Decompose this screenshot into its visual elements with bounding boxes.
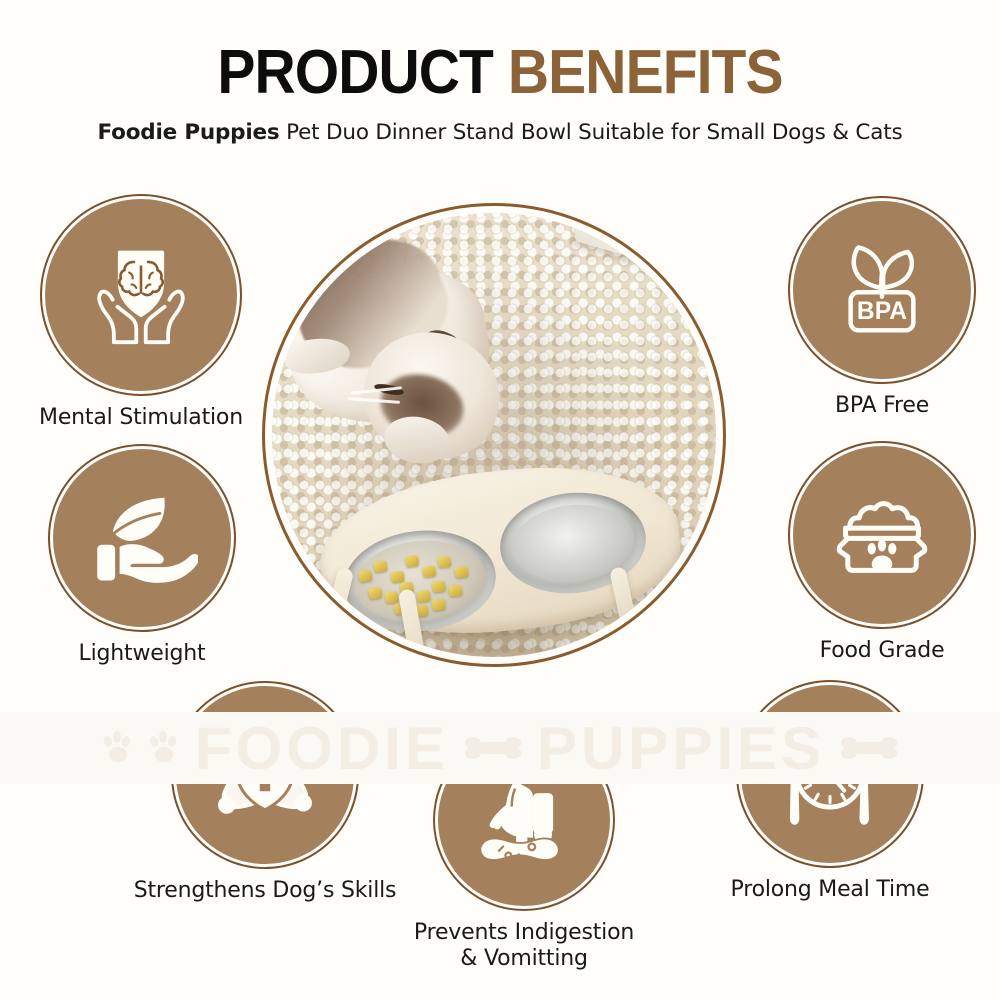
cat	[288, 227, 538, 507]
benefit-label: Prolong Meal Time	[706, 877, 954, 903]
subtitle-brand: Foodie Puppies	[98, 120, 280, 145]
pet-bowl-stand	[320, 471, 700, 657]
page-title: PRODUCT BENEFITS	[40, 42, 960, 104]
brand-watermark: FOODIE PUPPIES	[0, 712, 1000, 784]
kibble	[352, 541, 487, 628]
paw-print-icon	[103, 731, 133, 765]
infographic-canvas: PRODUCT BENEFITS Foodie Puppies Pet Duo …	[0, 0, 1000, 1000]
product-photo	[262, 203, 726, 667]
benefit-label: Lightweight	[44, 641, 240, 667]
subtitle: Foodie Puppies Pet Duo Dinner Stand Bowl…	[0, 120, 1000, 145]
food-bowl-paw-icon	[790, 443, 974, 627]
product-photo-image	[272, 213, 716, 657]
title-part-benefits: BENEFITS	[508, 38, 783, 107]
benefit-label-line2: & Vomitting	[388, 946, 660, 972]
benefit-label: Mental Stimulation	[36, 405, 246, 431]
leaf-on-hand-icon	[50, 446, 234, 630]
benefit-mental-stimulation[interactable]: Mental Stimulation	[36, 196, 246, 431]
bpa-leaf-icon: BPA	[790, 198, 974, 382]
bone-icon	[841, 735, 897, 761]
benefit-food-grade[interactable]: Food Grade	[787, 443, 977, 664]
bpa-text: BPA	[857, 298, 907, 325]
title-part-product: PRODUCT	[217, 38, 493, 107]
benefit-label: Strengthens Dog’s Skills	[120, 878, 410, 904]
subtitle-description: Pet Duo Dinner Stand Bowl Suitable for S…	[280, 120, 903, 145]
benefit-label: Food Grade	[787, 638, 977, 664]
benefit-label: Prevents Indigestion & Vomitting	[388, 920, 660, 972]
benefit-label-line1: Prevents Indigestion	[388, 920, 660, 946]
benefit-bpa-free[interactable]: BPA BPA Free	[787, 198, 977, 419]
watermark-text-left: FOODIE	[195, 714, 449, 783]
benefit-lightweight[interactable]: Lightweight	[44, 446, 240, 667]
paw-print-icon	[149, 731, 179, 765]
watermark-text-right: PUPPIES	[537, 714, 825, 783]
header: PRODUCT BENEFITS Foodie Puppies Pet Duo …	[0, 0, 1000, 145]
brain-shield-hands-icon	[42, 196, 240, 394]
benefit-label: BPA Free	[787, 393, 977, 419]
bone-icon	[465, 735, 521, 761]
